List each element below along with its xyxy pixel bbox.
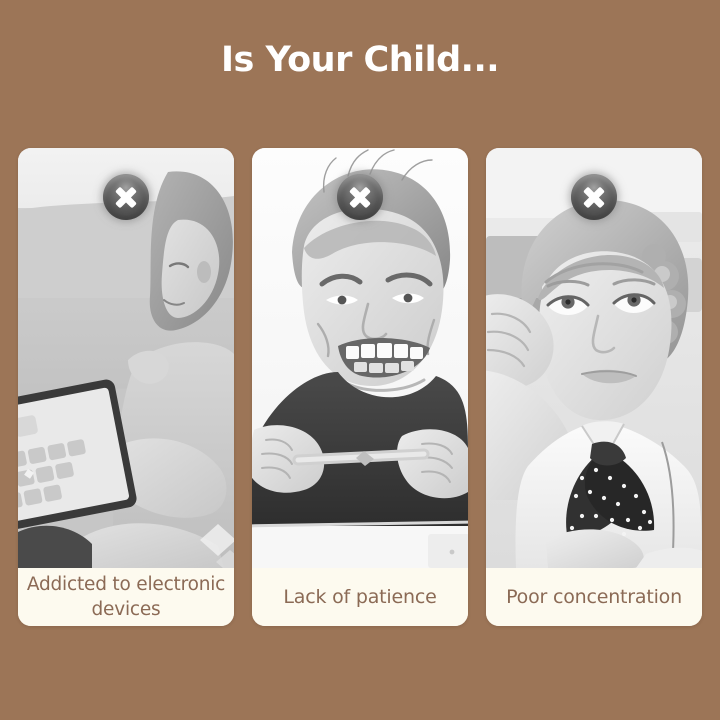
- card-row: Addicted to electronic devices: [18, 148, 702, 626]
- problem-card-patience[interactable]: Lack of patience: [252, 148, 468, 626]
- problem-card-concentration[interactable]: Poor concentration: [486, 148, 702, 626]
- promo-poster: Is Your Child...: [0, 0, 720, 720]
- card-photo-addiction: [18, 148, 234, 568]
- card-photo-patience: [252, 148, 468, 568]
- card-photo-concentration: [486, 148, 702, 568]
- card-caption-patience: Lack of patience: [252, 568, 468, 626]
- x-mark-glyph: [571, 174, 617, 220]
- red-x-circle-icon: [103, 174, 149, 220]
- caption-text: Addicted to electronic devices: [24, 572, 228, 622]
- card-caption-concentration: Poor concentration: [486, 568, 702, 626]
- red-x-circle-icon: [337, 174, 383, 220]
- x-mark-glyph: [103, 174, 149, 220]
- card-caption-addiction: Addicted to electronic devices: [18, 568, 234, 626]
- red-x-circle-icon: [571, 174, 617, 220]
- page-title: Is Your Child...: [0, 38, 720, 82]
- x-mark-glyph: [337, 174, 383, 220]
- problem-card-addiction[interactable]: Addicted to electronic devices: [18, 148, 234, 626]
- caption-text: Lack of patience: [283, 585, 436, 610]
- caption-text: Poor concentration: [506, 585, 682, 610]
